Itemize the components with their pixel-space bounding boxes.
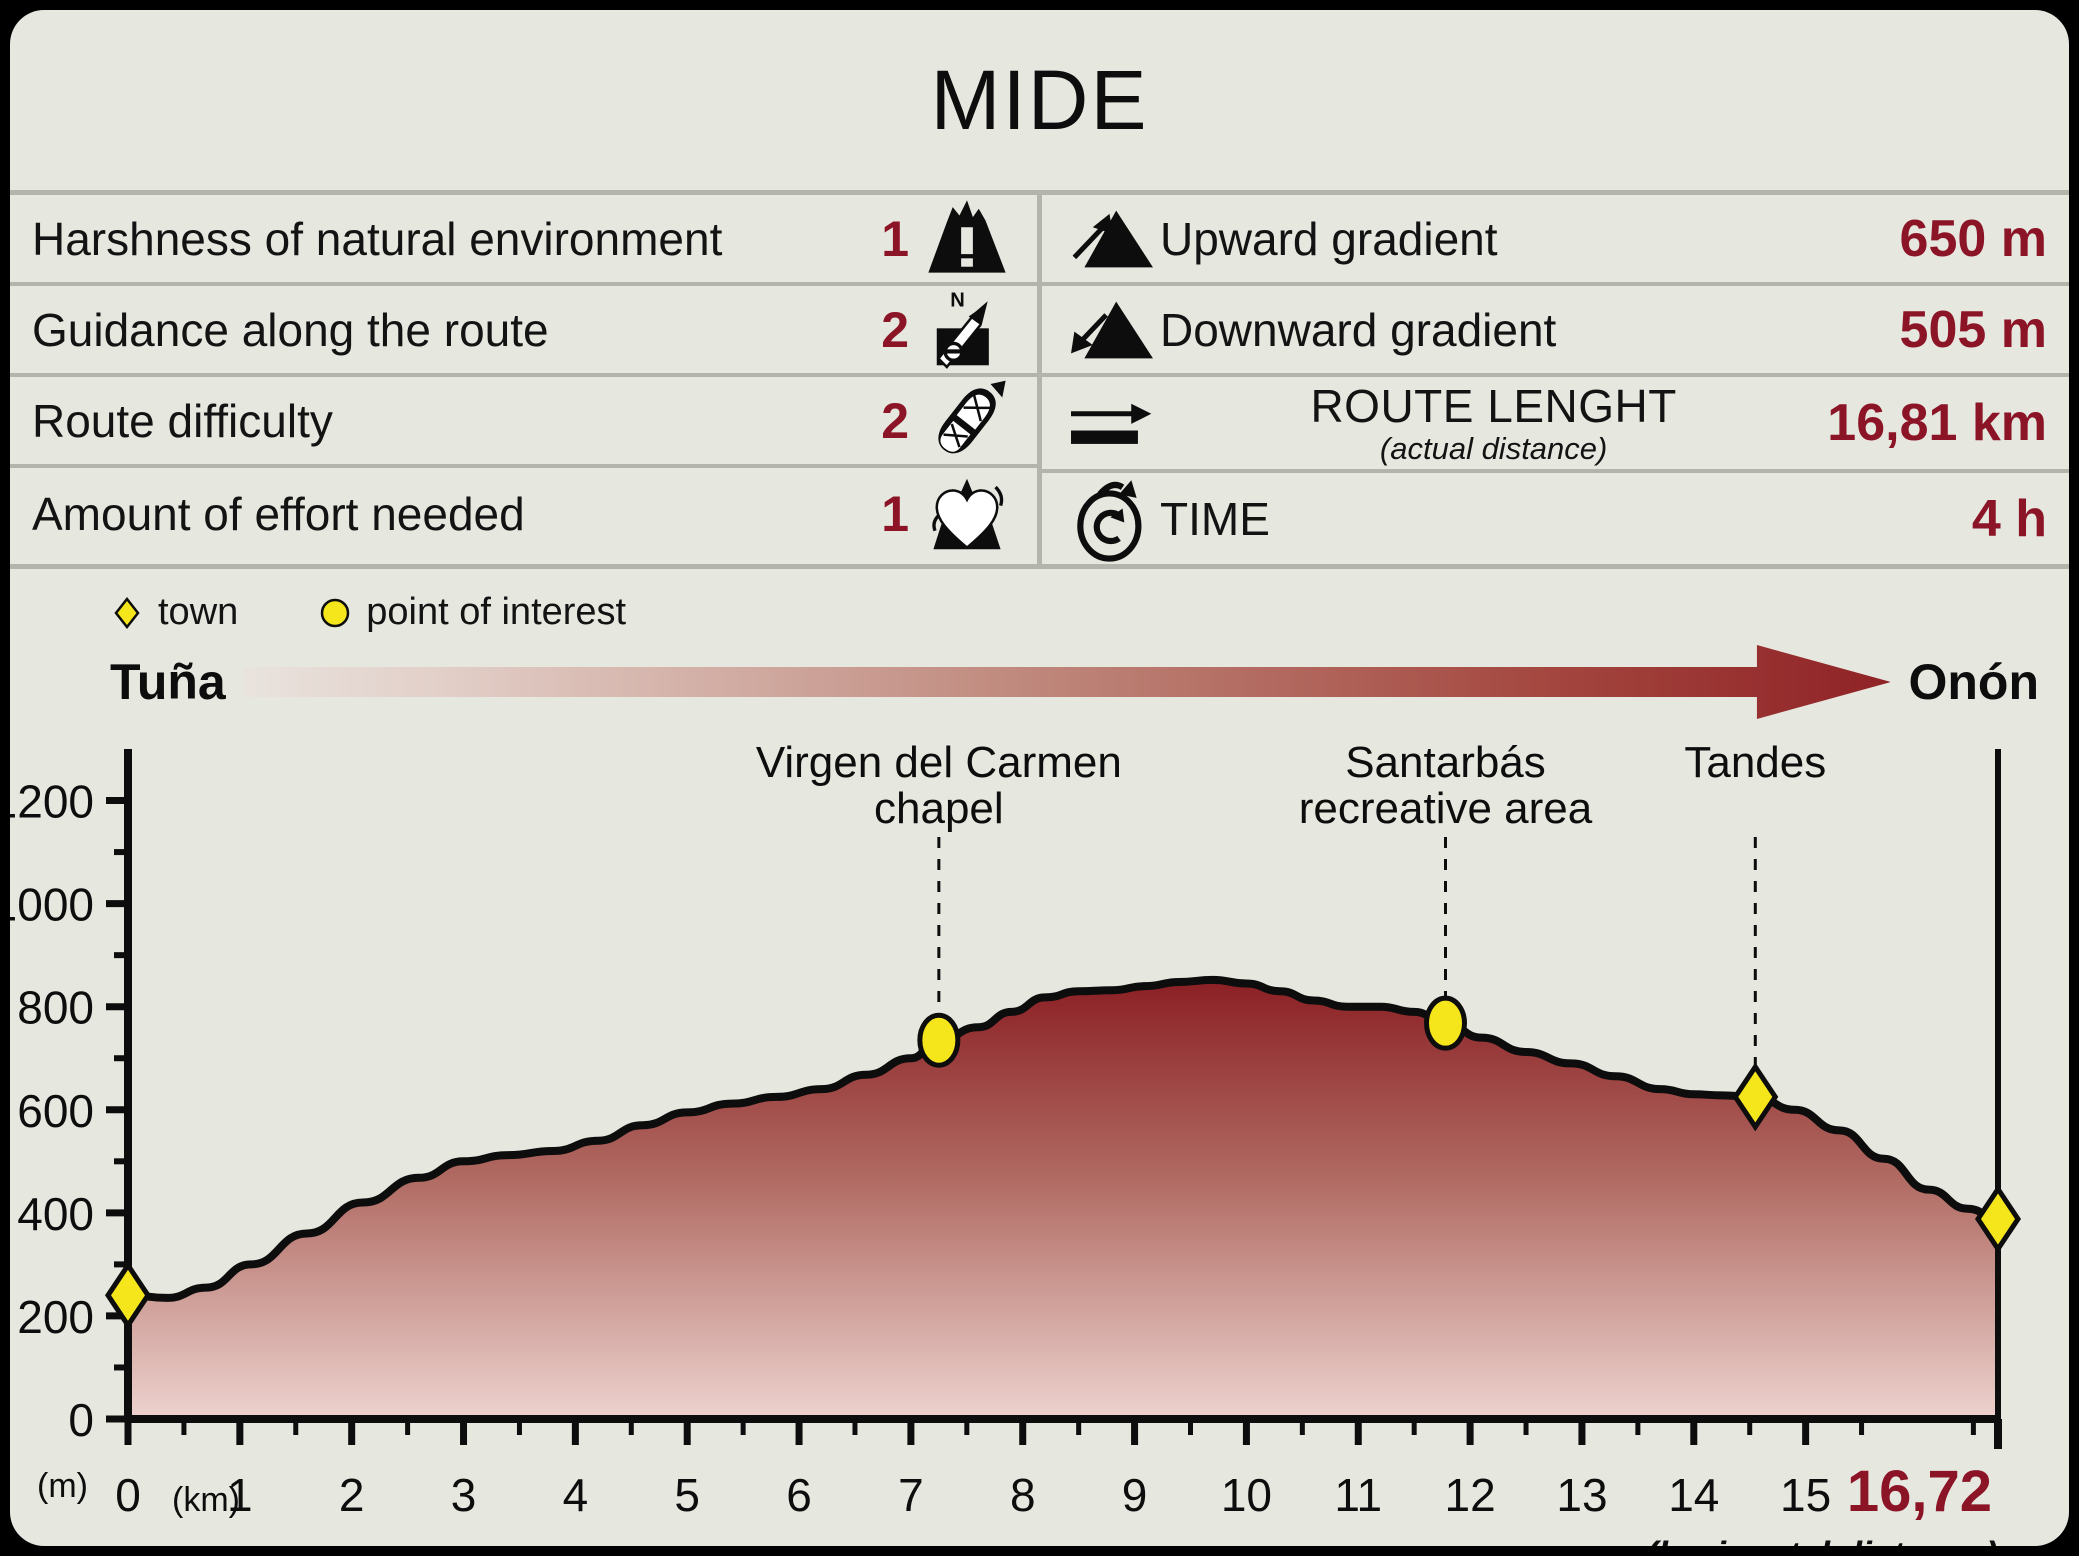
route-gradient-arrow bbox=[244, 645, 1891, 719]
x-tick-label: 13 bbox=[1556, 1469, 1607, 1521]
warning-triangle-icon bbox=[919, 197, 1015, 281]
annotation-label: Tandes bbox=[1684, 738, 1826, 787]
criteria-score: 1 bbox=[881, 210, 909, 268]
legend-label: point of interest bbox=[366, 591, 626, 634]
x-tick-label: 5 bbox=[674, 1469, 700, 1521]
elevation-chart-svg: 020040060080010001200(m)0123456789101112… bbox=[10, 719, 2069, 1546]
metric-row-upward-gradient: Upward gradient 650 m bbox=[1042, 195, 2069, 286]
x-tick-label: 2 bbox=[339, 1469, 365, 1521]
mountain-down-arrow-icon bbox=[1064, 293, 1160, 367]
annotation-label: recreative area bbox=[1299, 784, 1593, 833]
metric-value: 4 h bbox=[1972, 489, 2047, 549]
metric-label: ROUTE LENGHT bbox=[1310, 383, 1676, 429]
y-tick-label: 0 bbox=[68, 1394, 94, 1446]
metrics-column: Upward gradient 650 m Downward gradient … bbox=[1042, 195, 2069, 564]
metric-row-downward-gradient: Downward gradient 505 m bbox=[1042, 286, 2069, 377]
x-end-label: 16,72 bbox=[1847, 1459, 1992, 1524]
y-tick-label: 1200 bbox=[10, 776, 94, 828]
mide-card: MIDE Harshness of natural environment 1 … bbox=[10, 10, 2069, 1546]
y-tick-label: 400 bbox=[17, 1188, 94, 1240]
annotation-label: Virgen del Carmen bbox=[756, 738, 1122, 787]
elevation-chart: 020040060080010001200(m)0123456789101112… bbox=[10, 719, 2069, 1546]
legend-item-poi: point of interest bbox=[318, 591, 626, 634]
y-axis-unit: (m) bbox=[37, 1467, 88, 1505]
annotation-label: chapel bbox=[874, 784, 1004, 833]
y-tick-label: 800 bbox=[17, 982, 94, 1034]
criteria-score: 2 bbox=[881, 392, 909, 450]
criteria-label: Amount of effort needed bbox=[32, 487, 525, 541]
criteria-label: Route difficulty bbox=[32, 394, 333, 448]
elevation-area bbox=[128, 980, 1998, 1419]
criteria-column: Harshness of natural environment 1 Guida… bbox=[10, 195, 1042, 564]
mide-table: Harshness of natural environment 1 Guida… bbox=[10, 195, 2069, 569]
legend-item-town: town bbox=[110, 591, 238, 634]
circle-marker-icon bbox=[318, 596, 352, 630]
metric-row-time: TIME 4 h bbox=[1042, 473, 2069, 564]
y-tick-label: 600 bbox=[17, 1085, 94, 1137]
criteria-score: 1 bbox=[881, 485, 909, 543]
y-tick-label: 1000 bbox=[10, 879, 94, 931]
metric-label: Downward gradient bbox=[1160, 303, 1556, 357]
x-tick-label: 8 bbox=[1010, 1469, 1036, 1521]
metric-row-route-length: ROUTE LENGHT (actual distance) 16,81 km bbox=[1042, 377, 2069, 473]
svg-text:N: N bbox=[950, 289, 965, 311]
metric-value: 16,81 km bbox=[1827, 393, 2047, 453]
stopwatch-icon bbox=[1064, 475, 1160, 563]
x-tick-label: 15 bbox=[1780, 1469, 1831, 1521]
x-tick-label: 0 bbox=[115, 1469, 141, 1521]
criteria-label: Guidance along the route bbox=[32, 303, 549, 357]
x-tick-label: 6 bbox=[786, 1469, 812, 1521]
criteria-row-effort: Amount of effort needed 1 bbox=[10, 468, 1037, 559]
metric-label: TIME bbox=[1160, 492, 1270, 546]
x-axis-label: (horizontal distance) bbox=[1646, 1534, 1998, 1546]
metric-value: 650 m bbox=[1900, 209, 2047, 269]
x-tick-label: 9 bbox=[1122, 1469, 1148, 1521]
x-tick-label: 14 bbox=[1668, 1469, 1719, 1521]
x-tick-label: 11 bbox=[1334, 1469, 1382, 1521]
x-axis-unit: (km) bbox=[172, 1481, 240, 1519]
x-tick-label: 4 bbox=[563, 1469, 589, 1521]
x-tick-label: 3 bbox=[451, 1469, 477, 1521]
diamond-marker-icon bbox=[110, 596, 144, 630]
page-title: MIDE bbox=[931, 52, 1149, 149]
elevation-profile-panel: town point of interest Tuña bbox=[10, 569, 2069, 1546]
x-tick-label: 7 bbox=[898, 1469, 924, 1521]
metric-label: Upward gradient bbox=[1160, 212, 1498, 266]
metric-sublabel: (actual distance) bbox=[1380, 433, 1607, 464]
route-start-label: Tuña bbox=[110, 653, 226, 711]
x-tick-label: 10 bbox=[1221, 1469, 1272, 1521]
criteria-row-harshness: Harshness of natural environment 1 bbox=[10, 195, 1037, 286]
y-tick-label: 200 bbox=[17, 1291, 94, 1343]
criteria-score: 2 bbox=[881, 301, 909, 359]
legend-label: town bbox=[158, 591, 238, 634]
heart-mountain-icon bbox=[919, 472, 1015, 556]
route-end-label: Onón bbox=[1908, 653, 2039, 711]
poi-marker-icon[interactable] bbox=[920, 1015, 958, 1065]
metric-value: 505 m bbox=[1900, 300, 2047, 360]
poi-marker-icon[interactable] bbox=[1427, 998, 1465, 1048]
mountain-up-arrow-icon bbox=[1064, 202, 1160, 276]
boot-sole-icon bbox=[919, 379, 1015, 463]
criteria-row-difficulty: Route difficulty 2 bbox=[10, 377, 1037, 468]
compass-icon: N bbox=[919, 288, 1015, 372]
title-bar: MIDE bbox=[10, 10, 2069, 195]
route-direction-bar: Tuña Onón bbox=[110, 645, 2039, 719]
route-length-label-block: ROUTE LENGHT (actual distance) bbox=[1310, 383, 1676, 464]
arrow-bar-icon bbox=[1064, 391, 1160, 455]
profile-legend: town point of interest bbox=[110, 591, 626, 634]
annotation-label: Santarbás bbox=[1345, 738, 1546, 787]
criteria-label: Harshness of natural environment bbox=[32, 212, 722, 266]
criteria-row-guidance: Guidance along the route 2 N bbox=[10, 286, 1037, 377]
x-tick-label: 12 bbox=[1445, 1469, 1496, 1521]
